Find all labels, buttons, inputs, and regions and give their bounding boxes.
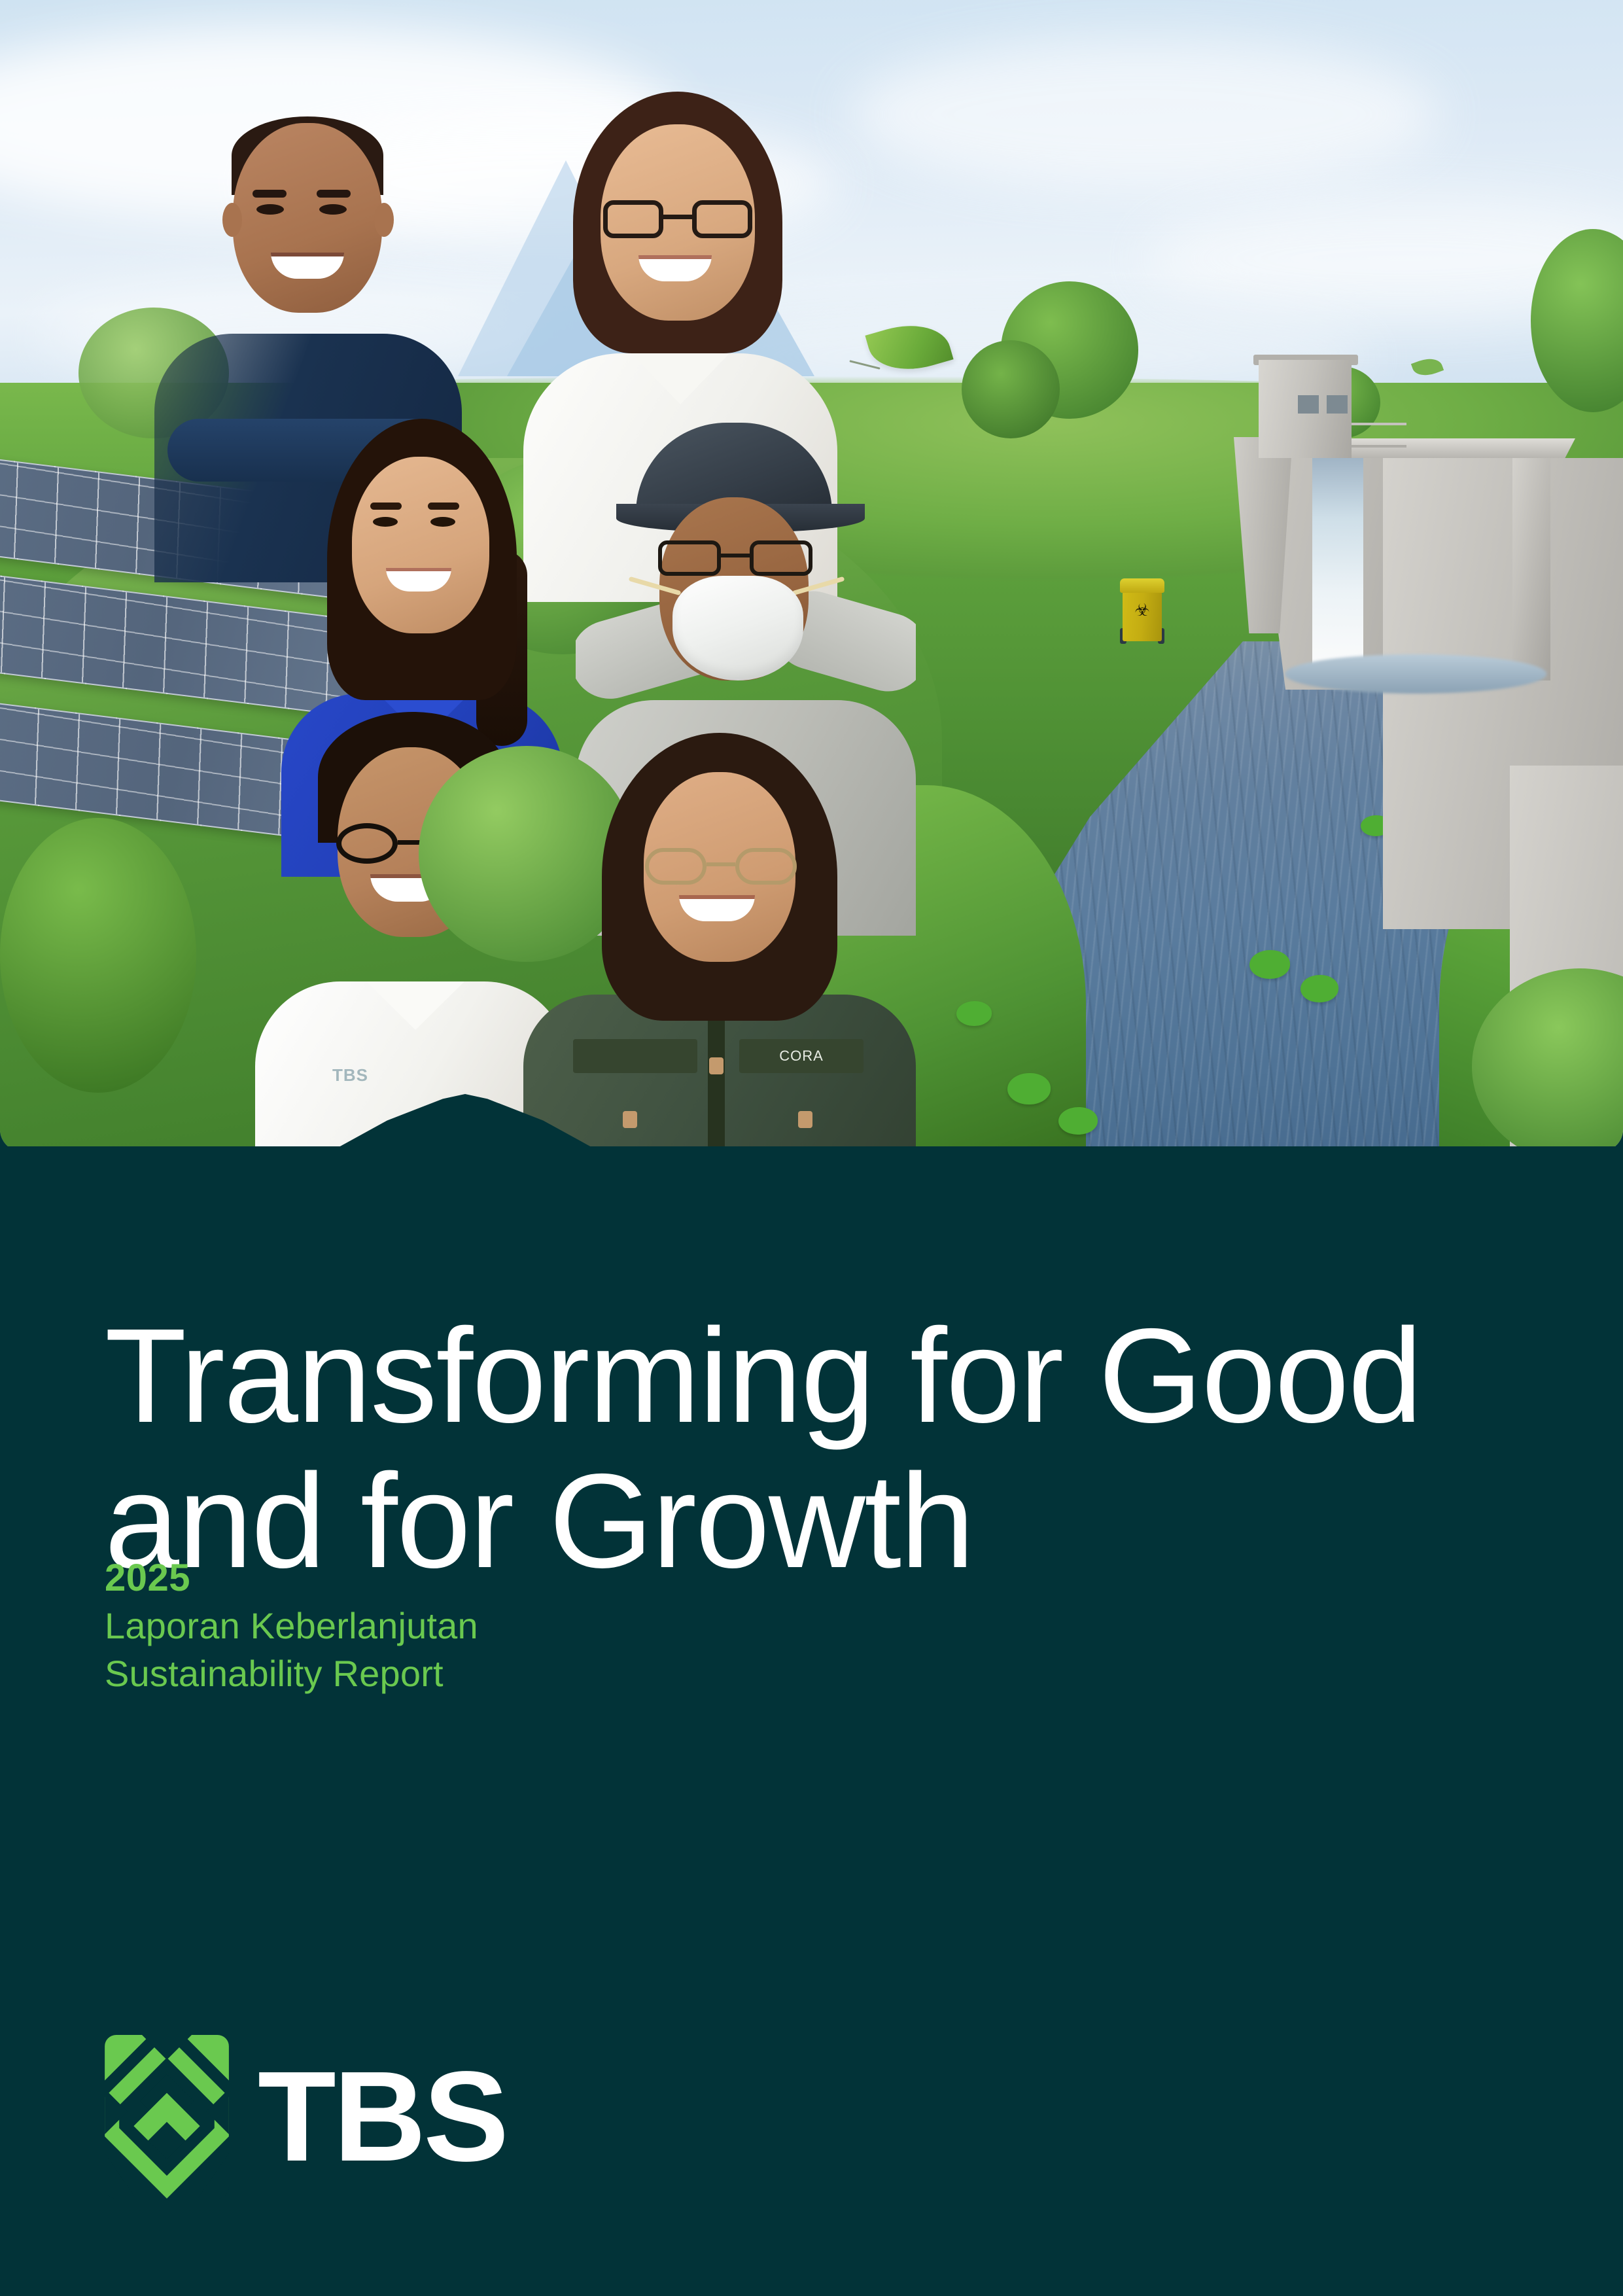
hydroelectric-dam bbox=[1229, 347, 1595, 687]
bridge bbox=[707, 862, 735, 866]
dam-window bbox=[1298, 395, 1319, 414]
lens bbox=[658, 540, 721, 576]
report-subtitle-indonesian: Laporan Keberlanjutan bbox=[105, 1602, 1021, 1650]
tree bbox=[0, 818, 196, 1093]
cloud bbox=[850, 39, 1439, 190]
glasses-icon bbox=[645, 848, 797, 885]
tbs-woven-diamond-mark-icon bbox=[105, 2035, 229, 2199]
lily-pad bbox=[1007, 1073, 1051, 1104]
bridge bbox=[663, 215, 692, 219]
ear bbox=[222, 203, 242, 237]
report-cover-page: ☣ bbox=[0, 0, 1623, 2296]
lens bbox=[645, 848, 707, 885]
button bbox=[709, 1057, 724, 1074]
face bbox=[352, 457, 489, 633]
face bbox=[233, 123, 382, 313]
report-subtitle-english: Sustainability Report bbox=[105, 1650, 1021, 1698]
lens bbox=[603, 200, 663, 238]
lens bbox=[336, 823, 398, 864]
uniform-name-patch bbox=[573, 1039, 697, 1073]
dam-walkway-railing bbox=[1352, 423, 1406, 448]
page-title: Transforming for Good and for Growth bbox=[105, 1303, 1478, 1593]
eye bbox=[430, 517, 455, 527]
dam-pier bbox=[1512, 451, 1550, 680]
glasses-icon bbox=[658, 540, 812, 576]
lily-pad bbox=[956, 1001, 992, 1026]
shirt-logo-tbs: TBS bbox=[332, 1065, 398, 1087]
eyebrow bbox=[317, 190, 351, 198]
eyebrow bbox=[370, 503, 402, 510]
tbs-logo: TBS bbox=[105, 2035, 506, 2199]
lens bbox=[750, 540, 812, 576]
bin-lid bbox=[1120, 578, 1164, 593]
button bbox=[623, 1111, 637, 1128]
report-subtitle-block: 2025 Laporan Keberlanjutan Sustainabilit… bbox=[105, 1554, 1021, 1698]
eye bbox=[256, 204, 284, 215]
uniform-cora-patch: CORA bbox=[739, 1039, 864, 1073]
lily-pad bbox=[1058, 1107, 1098, 1135]
bridge bbox=[721, 554, 750, 557]
ear bbox=[374, 203, 394, 237]
lily-pad bbox=[1249, 950, 1290, 979]
tree bbox=[962, 340, 1060, 438]
button bbox=[798, 1111, 812, 1128]
biohazard-waste-bin: ☣ bbox=[1120, 573, 1164, 645]
eyebrow bbox=[428, 503, 459, 510]
person-green-uniform: CORA bbox=[523, 733, 916, 1152]
biohazard-icon: ☣ bbox=[1133, 601, 1151, 619]
lily-pad bbox=[1300, 975, 1338, 1002]
eyebrow bbox=[253, 190, 287, 198]
respirator-mask-icon bbox=[672, 576, 803, 680]
lens bbox=[692, 200, 752, 238]
glasses-icon bbox=[603, 200, 752, 238]
dam-control-tower bbox=[1259, 360, 1352, 458]
dam-tailwater bbox=[1285, 654, 1546, 694]
dam-window bbox=[1327, 395, 1348, 414]
eye bbox=[373, 517, 398, 527]
hero-photo: ☣ bbox=[0, 0, 1623, 1152]
eye bbox=[319, 204, 347, 215]
lens bbox=[735, 848, 797, 885]
spillway-water bbox=[1312, 458, 1363, 674]
report-year: 2025 bbox=[105, 1554, 1021, 1602]
tbs-wordmark: TBS bbox=[258, 2053, 506, 2181]
